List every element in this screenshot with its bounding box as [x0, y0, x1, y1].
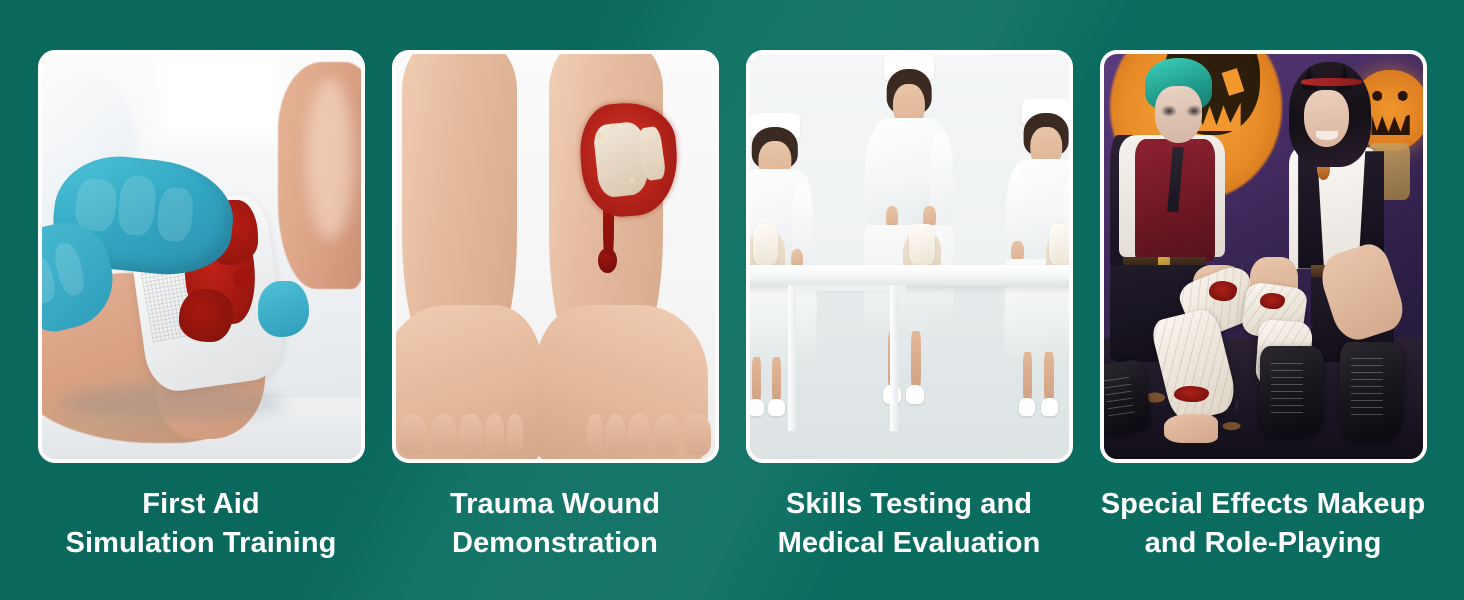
card-caption: Trauma Wound Demonstration: [385, 485, 725, 562]
trauma-wound-illustration: [396, 54, 715, 459]
caption-line-1: First Aid: [31, 485, 371, 524]
caption-line-1: Trauma Wound: [385, 485, 725, 524]
caption-line-2: Medical Evaluation: [739, 524, 1079, 563]
skills-testing-illustration: [750, 54, 1069, 459]
scenario-card-skills-testing[interactable]: Skills Testing and Medical Evaluation: [746, 50, 1073, 562]
special-effects-illustration: [1104, 54, 1423, 459]
card-caption: Skills Testing and Medical Evaluation: [739, 485, 1079, 562]
special-effects-makeup-photo[interactable]: [1100, 50, 1427, 463]
scenario-card-special-effects[interactable]: Special Effects Makeup and Role-Playing: [1100, 50, 1427, 562]
application-scenarios-banner: First Aid Simulation Training: [0, 0, 1464, 600]
caption-line-2: and Role-Playing: [1093, 524, 1433, 563]
trauma-wound-photo[interactable]: [392, 50, 719, 463]
first-aid-bandaging-photo[interactable]: [38, 50, 365, 463]
caption-line-2: Simulation Training: [31, 524, 371, 563]
caption-line-2: Demonstration: [385, 524, 725, 563]
scenario-card-first-aid[interactable]: First Aid Simulation Training: [38, 50, 365, 562]
caption-line-1: Special Effects Makeup: [1093, 485, 1433, 524]
first-aid-illustration: [42, 54, 361, 459]
card-caption: First Aid Simulation Training: [31, 485, 371, 562]
skills-testing-photo[interactable]: [746, 50, 1073, 463]
scenario-card-trauma-wound[interactable]: Trauma Wound Demonstration: [392, 50, 719, 562]
card-caption: Special Effects Makeup and Role-Playing: [1093, 485, 1433, 562]
caption-line-1: Skills Testing and: [739, 485, 1079, 524]
